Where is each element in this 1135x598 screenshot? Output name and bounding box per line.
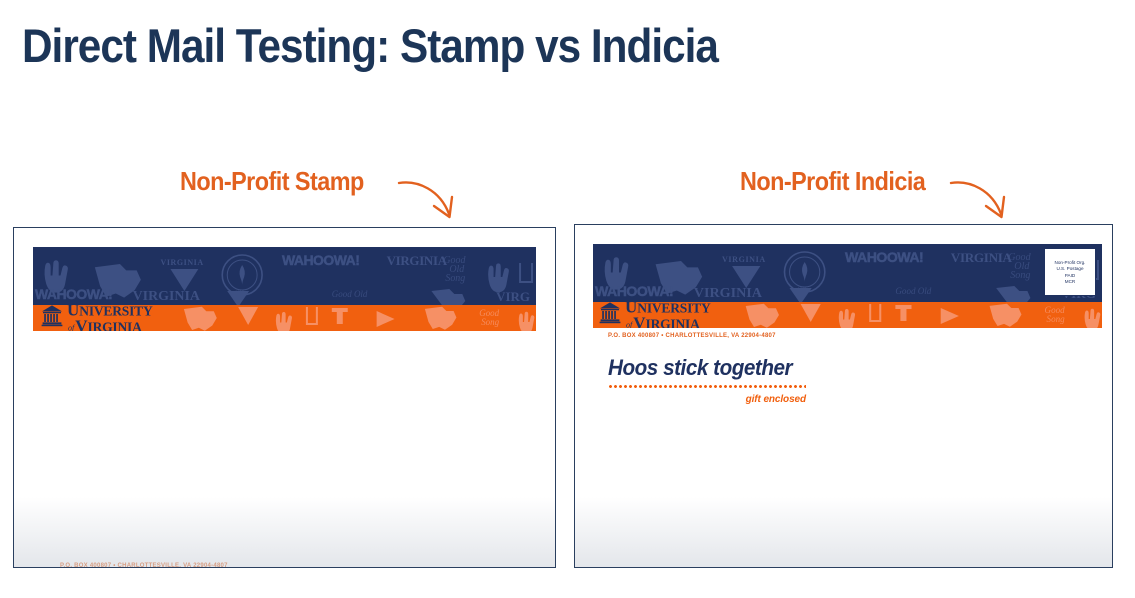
envelope-subline: gift enclosed bbox=[608, 394, 806, 405]
svg-text:WAHOOWA!: WAHOOWA! bbox=[845, 249, 923, 265]
uva-wordmark-university: NIVERSITY bbox=[79, 305, 152, 317]
svg-text:Good Old: Good Old bbox=[895, 286, 931, 296]
svg-text:WAHOOWA!: WAHOOWA! bbox=[282, 252, 359, 268]
svg-text:Song: Song bbox=[1010, 270, 1030, 281]
uva-wordmark-university: NIVERSITY bbox=[637, 302, 710, 314]
svg-text:VIRGINIA: VIRGINIA bbox=[387, 253, 448, 268]
uva-logo-lockup: UNIVERSITY ofVIRGINIA bbox=[41, 305, 153, 331]
curved-arrow-down-right-icon bbox=[396, 170, 466, 230]
page-title: Direct Mail Testing: Stamp vs Indicia bbox=[22, 17, 718, 75]
uva-wordmark-virginia: IRGINIA bbox=[646, 318, 700, 328]
callout-indicia-label: Non-Profit Indicia bbox=[740, 166, 925, 197]
svg-text:WAHOOWA!: WAHOOWA! bbox=[595, 283, 673, 299]
svg-text:Song: Song bbox=[445, 273, 465, 284]
uva-wordmark: UNIVERSITY ofVIRGINIA bbox=[67, 305, 153, 331]
envelope-mockup-stamp[interactable]: VIRGINIA 1819 WAHOOWA! bbox=[13, 227, 556, 568]
uva-pattern-navy-icon: VIRGINIA 1819 WAHOOWA! bbox=[593, 244, 1102, 302]
callout-stamp-label: Non-Profit Stamp bbox=[180, 166, 364, 197]
envelope-headline-block: Hoos stick together gift enclosed bbox=[608, 355, 806, 405]
dotted-divider bbox=[608, 385, 806, 388]
svg-text:Good Old: Good Old bbox=[332, 289, 368, 299]
svg-text:WAHOOWA!: WAHOOWA! bbox=[35, 286, 112, 302]
envelope-brand-band: VIRGINIA 1819 WAHOOWA! bbox=[33, 247, 536, 331]
uva-wordmark-virginia: IRGINIA bbox=[88, 321, 142, 331]
callout-stamp: Non-Profit Stamp bbox=[180, 166, 384, 197]
uva-wordmark: UNIVERSITY ofVIRGINIA bbox=[625, 302, 711, 328]
return-address: P.O. BOX 400807 • CHARLOTTESVILLE, VA 22… bbox=[60, 563, 228, 568]
callout-indicia: Non-Profit Indicia bbox=[740, 166, 946, 197]
navy-pattern-band: VIRGINIA 1819 WAHOOWA! bbox=[593, 244, 1102, 302]
indicia-line-2: U.S. Postage bbox=[1056, 266, 1083, 271]
envelope-headline: Hoos stick together bbox=[608, 355, 794, 381]
uva-wordmark-v: V bbox=[75, 318, 87, 331]
svg-text:Song: Song bbox=[1047, 314, 1066, 324]
slide-canvas: Direct Mail Testing: Stamp vs Indicia No… bbox=[0, 0, 1135, 598]
uva-rotunda-icon bbox=[41, 305, 63, 331]
orange-logo-band: Good Song bbox=[33, 305, 536, 331]
svg-text:VIRGINIA: VIRGINIA bbox=[133, 289, 200, 304]
postage-indicia-box: Non-Profit Org. U.S. Postage PAID MCR bbox=[1044, 248, 1096, 296]
uva-wordmark-of: of bbox=[626, 321, 632, 328]
envelope-mockup-indicia[interactable]: VIRGINIA 1819 WAHOOWA! bbox=[574, 224, 1113, 568]
return-address: P.O. BOX 400807 • CHARLOTTESVILLE, VA 22… bbox=[608, 333, 776, 339]
indicia-line-3: PAID bbox=[1065, 273, 1075, 278]
svg-text:VIRG: VIRG bbox=[496, 289, 530, 304]
indicia-line-1: Non-Profit Org. bbox=[1055, 260, 1086, 265]
envelope-brand-band: VIRGINIA 1819 WAHOOWA! bbox=[593, 244, 1102, 328]
uva-wordmark-v: V bbox=[633, 315, 645, 328]
svg-text:Song: Song bbox=[481, 317, 499, 327]
curved-arrow-down-right-icon bbox=[948, 170, 1018, 230]
navy-pattern-band: VIRGINIA 1819 WAHOOWA! bbox=[33, 247, 536, 305]
indicia-line-4: MCR bbox=[1065, 279, 1075, 284]
svg-text:VIRGINIA: VIRGINIA bbox=[160, 258, 203, 267]
uva-wordmark-of: of bbox=[68, 324, 74, 331]
uva-logo-lockup: UNIVERSITY ofVIRGINIA bbox=[599, 302, 711, 328]
svg-text:VIRGINIA: VIRGINIA bbox=[951, 250, 1013, 265]
uva-rotunda-icon bbox=[599, 302, 621, 328]
svg-text:VIRGINIA: VIRGINIA bbox=[694, 285, 763, 301]
orange-logo-band: Good Song bbox=[593, 302, 1102, 328]
svg-text:VIRGINIA: VIRGINIA bbox=[722, 255, 766, 264]
uva-pattern-navy-icon: VIRGINIA 1819 WAHOOWA! bbox=[33, 247, 536, 305]
